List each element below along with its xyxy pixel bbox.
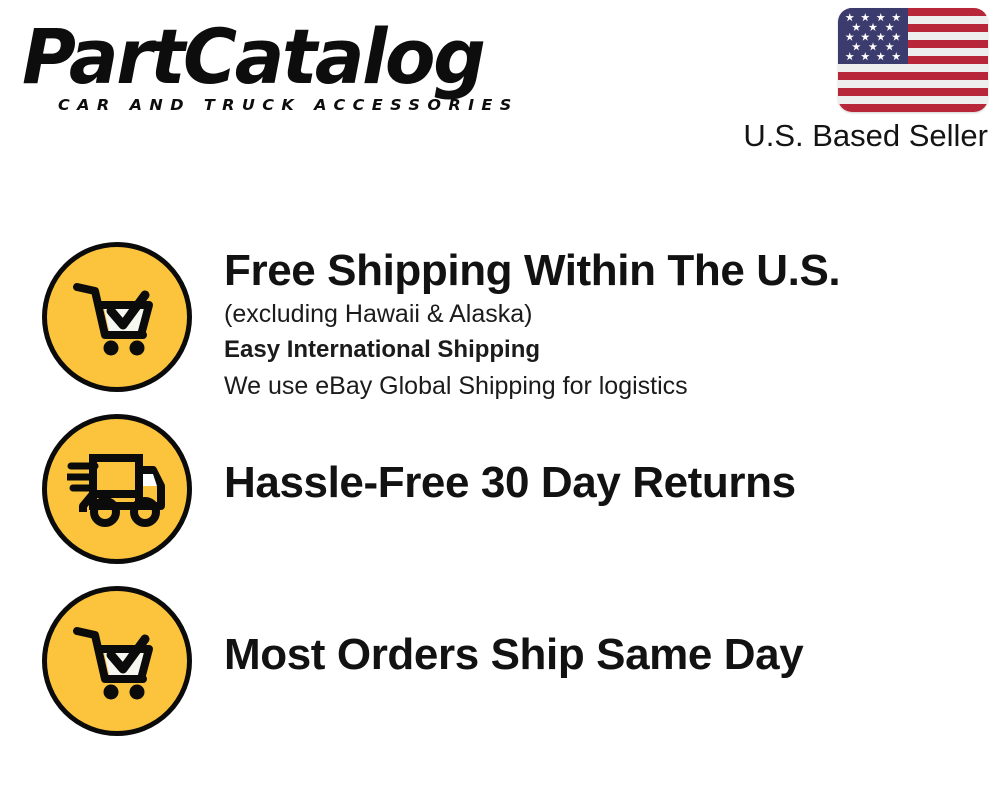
flag-star-icon [845,33,854,42]
shopping-cart-check-icon [42,586,192,736]
flag-star-icon [876,33,885,42]
us-based-seller-block: U.S. Based Seller [712,8,988,154]
flag-star-icon [861,52,870,61]
feature-heading: Free Shipping Within The U.S. [224,246,1000,296]
feature-subtext-logistics: We use eBay Global Shipping for logistic… [224,368,1000,404]
flag-star-icon [868,42,877,51]
us-based-seller-label: U.S. Based Seller [712,118,988,154]
feature-row-same-day: Most Orders Ship Same Day [0,586,1000,736]
feature-text-free-shipping: Free Shipping Within The U.S. (excluding… [224,242,1000,404]
flag-canton [838,8,908,64]
flag-star-icon [876,13,885,22]
flag-star-row [842,23,904,32]
flag-star-icon [861,33,870,42]
us-flag-icon [838,8,988,112]
delivery-truck-icon [42,414,192,564]
flag-star-row [842,42,904,51]
flag-star-icon [845,52,854,61]
feature-heading: Most Orders Ship Same Day [224,630,1000,680]
flag-star-icon [861,13,870,22]
flag-star-icon [885,42,894,51]
feature-text-same-day: Most Orders Ship Same Day [224,586,1000,680]
feature-subtext-exclusions: (excluding Hawaii & Alaska) [224,296,1000,332]
flag-star-icon [845,13,854,22]
flag-stripe [838,88,988,96]
brand-tagline: CAR AND TRUCK ACCESSORIES [58,96,519,113]
flag-stripe [838,80,988,88]
flag-star-icon [892,33,901,42]
partcatalog-logo: PartCatalog CAR AND TRUCK ACCESSORIES [22,18,492,118]
feature-heading: Hassle-Free 30 Day Returns [224,458,1000,508]
shipping-info-banner: PartCatalog CAR AND TRUCK ACCESSORIES [0,0,1000,800]
flag-star-grid [838,8,908,64]
flag-stripe [838,96,988,104]
flag-stripe [838,72,988,80]
flag-star-row [842,13,904,22]
feature-subtext-international: Easy International Shipping [224,332,1000,368]
flag-star-icon [852,42,861,51]
flag-star-row [842,52,904,61]
flag-star-icon [852,23,861,32]
flag-star-icon [892,52,901,61]
feature-text-returns: Hassle-Free 30 Day Returns [224,414,1000,508]
feature-row-free-shipping: Free Shipping Within The U.S. (excluding… [0,242,1000,404]
flag-star-icon [885,23,894,32]
flag-star-icon [876,52,885,61]
feature-row-returns: Hassle-Free 30 Day Returns [0,414,1000,564]
flag-stripe [838,64,988,72]
flag-stripe [838,104,988,112]
flag-star-row [842,33,904,42]
flag-star-icon [892,13,901,22]
shopping-cart-check-icon [42,242,192,392]
flag-star-icon [868,23,877,32]
banner-header: PartCatalog CAR AND TRUCK ACCESSORIES [0,0,1000,175]
brand-wordmark: PartCatalog [22,18,478,96]
